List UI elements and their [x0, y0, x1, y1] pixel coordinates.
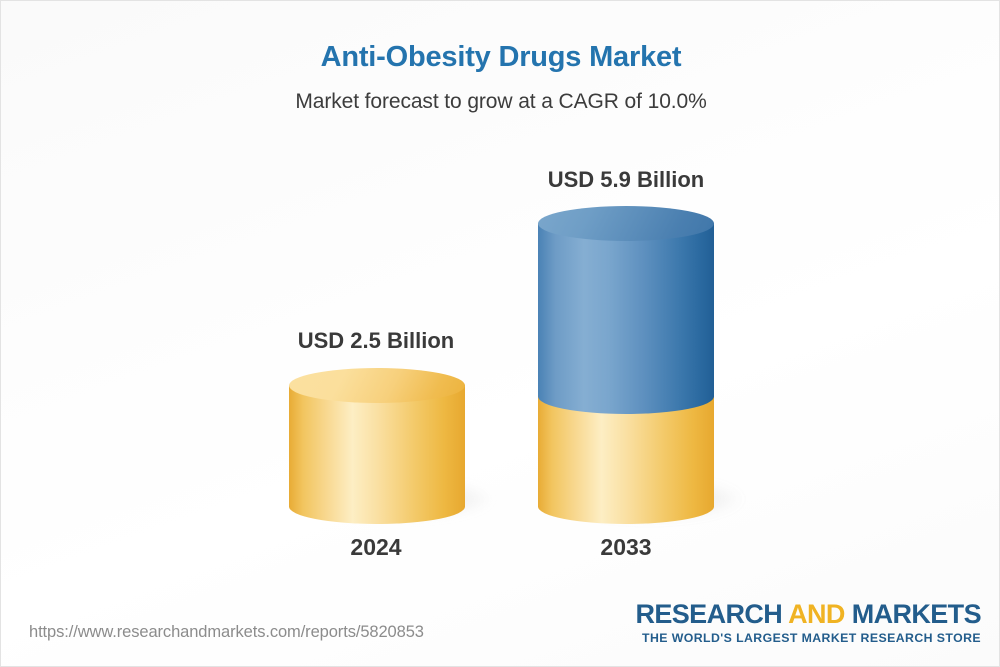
category-label-2033: 2033: [526, 534, 726, 561]
chart-title: Anti-Obesity Drugs Market: [1, 41, 1000, 74]
chart-subtitle: Market forecast to grow at a CAGR of 10.…: [1, 90, 1000, 114]
chart-canvas: Anti-Obesity Drugs Market Market forecas…: [0, 0, 1000, 667]
brand-logo[interactable]: RESEARCH AND MARKETS THE WORLD'S LARGEST…: [635, 601, 981, 644]
report-url[interactable]: https://www.researchandmarkets.com/repor…: [29, 623, 424, 642]
bar-segment-divider-2033: [538, 379, 714, 414]
logo-word-and: AND: [788, 599, 852, 629]
bar-bottom-cap-2033: [538, 489, 714, 524]
logo-word-research: RESEARCH: [635, 599, 788, 629]
bar-top-cap-2024: [289, 368, 465, 403]
logo-word-markets: MARKETS: [852, 599, 981, 629]
category-label-2024: 2024: [276, 534, 476, 561]
bar-segment-blue-2033: [538, 223, 714, 397]
logo-wordmark: RESEARCH AND MARKETS: [635, 601, 981, 628]
bar-top-cap-2033: [538, 206, 714, 241]
bar-bottom-cap-2024: [289, 489, 465, 524]
logo-tagline: THE WORLD'S LARGEST MARKET RESEARCH STOR…: [635, 632, 981, 644]
bar-2033[interactable]: [538, 206, 714, 516]
bar-2024[interactable]: [289, 368, 465, 518]
value-label-2024: USD 2.5 Billion: [276, 328, 476, 354]
value-label-2033: USD 5.9 Billion: [526, 167, 726, 193]
